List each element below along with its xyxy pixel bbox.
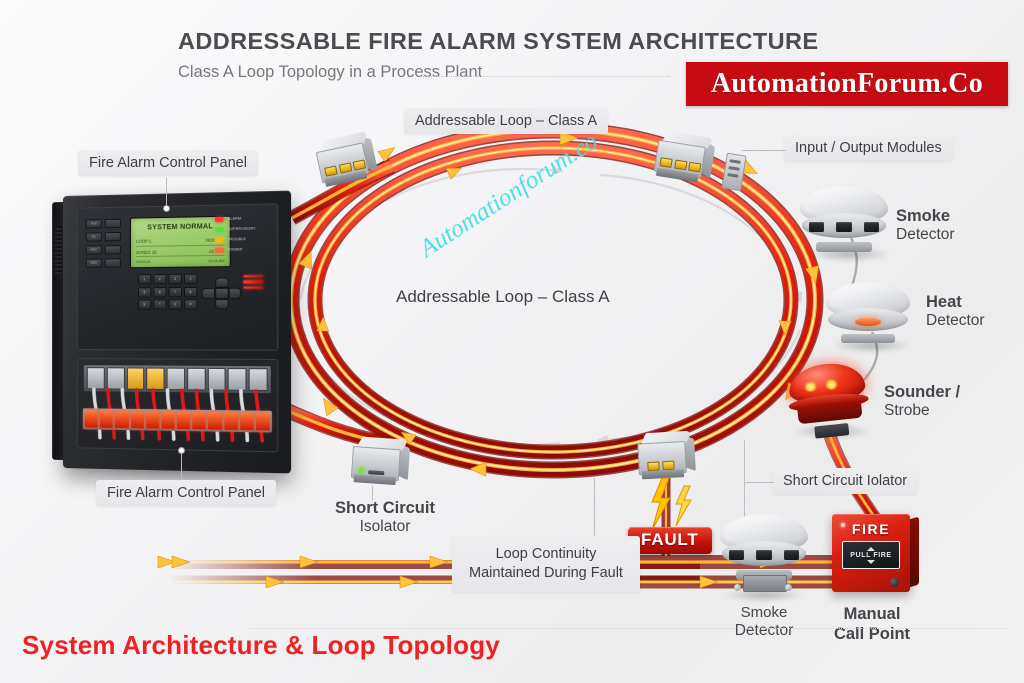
key-hash[interactable]: #	[184, 299, 197, 309]
fuse-4	[130, 411, 143, 428]
label-smoke-detector-bottom: Smoke Detector	[716, 604, 812, 641]
terminal-6	[187, 368, 205, 391]
fault-badge: FAULT	[628, 527, 712, 554]
lcd-footer-left: STATUS	[136, 260, 151, 264]
smoke-detector-right-shadow	[806, 246, 892, 262]
fuse-6	[161, 411, 174, 429]
heat-line1: Heat	[926, 292, 985, 312]
leader-loop-continuity	[594, 478, 595, 536]
callout-loop-continuity: Loop Continuity Maintained During Fault	[452, 536, 640, 592]
key-2[interactable]: 2	[153, 274, 166, 284]
leader-dot-facp-bottom	[178, 447, 185, 454]
callout-facp-bottom: Fire Alarm Control Panel	[96, 480, 276, 506]
fuse-5	[146, 411, 159, 428]
facp-button-blank-1[interactable]	[105, 219, 121, 228]
key-star[interactable]: *	[153, 299, 166, 309]
facp-button-blank-3[interactable]	[105, 245, 121, 254]
leader-isolator-right-vertical	[744, 440, 745, 532]
leader-dot-facp-top	[163, 205, 170, 212]
key-8[interactable]: 8	[184, 286, 197, 296]
fault-lightning-bolts	[636, 476, 700, 532]
led-label-supervisory: SUPERVISORY	[228, 227, 256, 232]
terminal-4	[147, 368, 165, 391]
terminal-5	[167, 368, 185, 391]
short-circuit-isolator-left[interactable]	[350, 436, 411, 488]
key-7[interactable]: 7	[169, 287, 182, 297]
fuse-9	[208, 412, 222, 430]
nav-left-button[interactable]	[202, 288, 216, 299]
lcd-footer: STATUS 12:04 AM	[136, 259, 224, 264]
terminal-1	[87, 367, 105, 389]
key-4[interactable]: 4	[184, 274, 197, 284]
facp-button-blank-2[interactable]	[105, 232, 121, 241]
mcp-reset-knob[interactable]	[890, 578, 899, 587]
loop-center-label: Addressable Loop – Class A	[396, 287, 610, 307]
lcd-rows: LOOP 1 NORMAL ZONES 16 ACTIVE	[136, 237, 224, 260]
io-module-top-right[interactable]	[653, 130, 718, 186]
isolator-left-status-led	[358, 467, 364, 473]
facp-zone-strip-indicators	[243, 275, 270, 292]
io-small-slot-2	[728, 166, 739, 171]
terminal-7	[208, 368, 227, 391]
io-terminal-2	[338, 162, 352, 173]
fuse-8	[193, 412, 207, 430]
label-sounder-strobe: Sounder / Strobe	[884, 382, 960, 421]
smoke-bottom-line1: Smoke	[716, 604, 812, 622]
sounder-line1: Sounder /	[884, 382, 960, 402]
io-right-terminal-3	[688, 162, 701, 173]
facp-navigation-pad[interactable]	[202, 277, 240, 308]
manual-call-point[interactable]: FIRE PULL FIRE	[832, 514, 910, 592]
isolator-left-base	[354, 474, 396, 485]
led-trouble	[215, 237, 223, 242]
callout-short-circuit-isolator-right: Short Circuit Iolator	[772, 468, 918, 494]
key-5[interactable]: 5	[138, 287, 151, 297]
facp-button-rst[interactable]: RST	[86, 245, 102, 254]
mcp-line1: Manual	[822, 604, 922, 624]
led-alarm	[215, 217, 223, 222]
label-smoke-detector-right: Smoke Detector	[896, 206, 955, 245]
fuse-11	[240, 412, 254, 430]
fuse-2	[100, 411, 113, 428]
callout-facp-top: Fire Alarm Control Panel	[78, 150, 258, 176]
lcd-footer-right: 12:04 AM	[208, 259, 225, 263]
sounder-line2: Strobe	[884, 402, 960, 421]
smoke-detector-bottom-shadow	[722, 588, 806, 602]
nav-up-button[interactable]	[215, 277, 229, 287]
mcp-arrow-up-icon	[867, 547, 875, 551]
io-right-terminal-2	[674, 159, 687, 170]
key-0[interactable]: 0	[169, 299, 182, 309]
facp-button-ack[interactable]: ACK	[86, 219, 102, 228]
terminal-8	[228, 368, 247, 391]
short-circuit-isolator-right[interactable]	[637, 431, 697, 482]
led-power	[215, 248, 223, 253]
facp-keypad[interactable]: 1 2 3 4 5 6 7 8 9 * 0 #	[138, 274, 199, 313]
callout-addressable-loop-top: Addressable Loop – Class A	[404, 108, 608, 134]
leader-isolator-right-horizontal	[744, 482, 774, 483]
key-1[interactable]: 1	[138, 274, 151, 284]
mcp-pull-text: PULL FIRE	[850, 552, 891, 559]
facp-button-sil[interactable]: SIL	[86, 232, 102, 241]
led-label-alarm: ALARM	[228, 217, 242, 221]
terminal-2	[107, 367, 125, 389]
facp-vent	[55, 226, 62, 274]
leader-facp-top	[166, 178, 167, 208]
terminal-9	[249, 368, 268, 391]
led-label-trouble: TROUBLE	[228, 237, 247, 241]
smoke-right-line2: Detector	[896, 226, 955, 245]
leader-io-modules	[742, 150, 786, 151]
zone-strip-3	[243, 286, 263, 289]
facp-function-buttons[interactable]: ACK SIL RST RES	[86, 219, 124, 272]
facp-led-indicators: ALARM SUPERVISORY TROUBLE POWER	[215, 216, 270, 258]
facp-wiring-compartment	[77, 358, 278, 452]
lcd-row-1-left: ZONES 16	[136, 249, 157, 254]
bottom-banner: System Architecture & Loop Topology	[22, 630, 500, 661]
key-6[interactable]: 6	[153, 287, 166, 297]
facp-front-fascia: ACK SIL RST RES SYSTEM NORMAL LOOP 1 NOR…	[77, 203, 278, 350]
diagram-canvas: ADDRESSABLE FIRE ALARM SYSTEM ARCHITECTU…	[0, 0, 1024, 683]
fuse-12	[256, 413, 270, 431]
sounder-strobe[interactable]	[787, 360, 869, 430]
facp-fuse-indicator-strip	[83, 408, 272, 432]
led-supervisory	[215, 227, 223, 232]
callout-io-modules: Input / Output Modules	[784, 135, 953, 161]
smoke-bottom-line2: Detector	[716, 622, 812, 641]
heat-line2: Detector	[926, 312, 985, 331]
io-terminal-3	[353, 159, 367, 170]
nav-right-button[interactable]	[229, 288, 242, 299]
zone-strip-1	[243, 275, 263, 278]
zone-strip-2	[243, 281, 263, 284]
heat-detector-shadow	[830, 338, 912, 353]
facp-button-blank-4[interactable]	[105, 258, 121, 267]
fuse-3	[115, 411, 128, 428]
terminal-3	[126, 367, 144, 389]
fire-alarm-control-panel[interactable]: ACK SIL RST RES SYSTEM NORMAL LOOP 1 NOR…	[63, 191, 291, 474]
nav-enter-button[interactable]	[215, 288, 229, 299]
isolator-left-line1: Short Circuit	[330, 498, 440, 518]
label-short-circuit-isolator-left: Short Circuit Isolator	[330, 498, 440, 537]
fuse-7	[177, 412, 191, 430]
isolator-left-line2: Isolator	[330, 518, 440, 537]
mcp-side	[909, 517, 919, 588]
fuse-10	[224, 412, 238, 430]
label-heat-detector: Heat Detector	[926, 292, 985, 331]
mcp-arrow-down-icon	[867, 560, 875, 564]
leader-facp-bottom	[181, 452, 182, 480]
led-label-power: POWER	[228, 248, 243, 252]
mcp-fire-text: FIRE	[832, 521, 910, 537]
mcp-pull-window[interactable]: PULL FIRE	[842, 541, 900, 569]
facp-button-res[interactable]: RES	[86, 259, 102, 268]
key-3[interactable]: 3	[169, 274, 182, 284]
io-terminal-1	[324, 165, 338, 176]
label-manual-call-point: Manual Call Point	[822, 604, 922, 644]
smoke-right-line1: Smoke	[896, 206, 955, 226]
nav-down-button[interactable]	[215, 299, 229, 309]
io-small-slot-1	[729, 159, 740, 164]
lcd-row-0-left: LOOP 1	[136, 239, 151, 244]
fuse-1	[85, 410, 98, 427]
io-small-slot-3	[727, 173, 738, 178]
key-9[interactable]: 9	[138, 300, 151, 310]
io-right-terminal-1	[659, 157, 672, 168]
